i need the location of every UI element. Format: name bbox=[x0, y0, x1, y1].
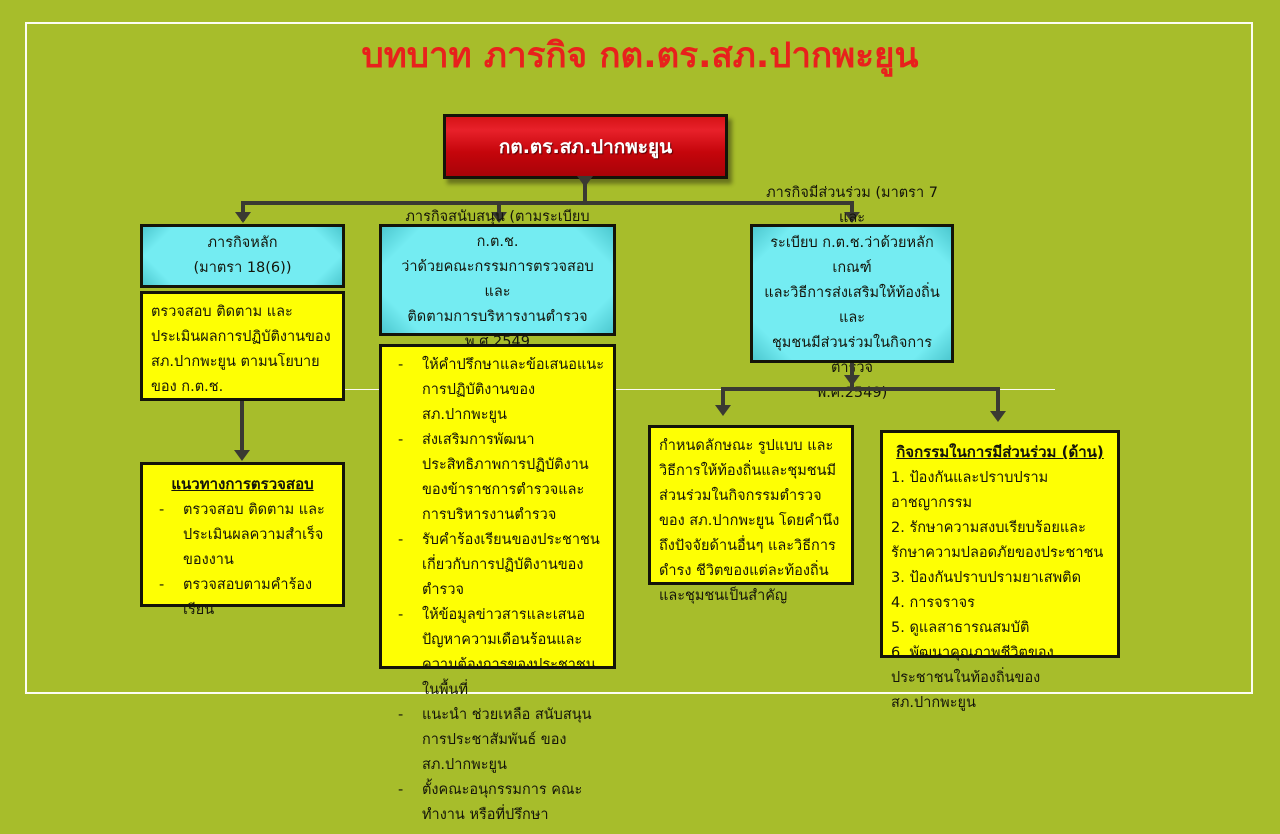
list-item: ตรวจสอบ ติดตาม และประเมินผลความสำเร็จ ขอ… bbox=[151, 498, 334, 573]
right-branch-header-line3: และวิธีการส่งเสริมให้ท้องถิ่นและ bbox=[761, 281, 943, 331]
list-item: แนะนำ ช่วยเหลือ สนับสนุนการประชาสัมพันธ์… bbox=[390, 703, 605, 778]
list-item: ตั้งคณะอนุกรรมการ คณะทำงาน หรือที่ปรึกษา bbox=[390, 778, 605, 828]
connector-right-bus bbox=[721, 387, 1000, 391]
middle-branch-header-text: ภารกิจสนับสนุน (ตามระเบียบ ก.ต.ช. ว่าด้ว… bbox=[382, 199, 613, 361]
slide-canvas: บทบาท ภารกิจ กต.ตร.สภ.ปากพะยูน กต.ตร.สภ.… bbox=[0, 0, 1280, 720]
right-child-left-box[interactable]: กำหนดลักษณะ รูปแบบ และวิธีการให้ท้องถิ่น… bbox=[648, 425, 854, 585]
right-child-right-box[interactable]: กิจกรรมในการมีส่วนร่วม (ด้าน) ป้องกันและ… bbox=[880, 430, 1120, 658]
left-child-box[interactable]: แนวทางการตรวจสอบ ตรวจสอบ ติดตาม และประเม… bbox=[140, 462, 345, 607]
left-child-list: ตรวจสอบ ติดตาม และประเมินผลความสำเร็จ ขอ… bbox=[151, 498, 334, 623]
right-branch-header-box[interactable]: ภารกิจมีส่วนร่วม (มาตรา 7 และ ระเบียบ ก.… bbox=[750, 224, 954, 363]
list-item: ตรวจสอบตามคำร้องเรียน bbox=[151, 573, 334, 623]
connector-left-child-stem bbox=[240, 401, 244, 453]
list-item: รับคำร้องเรียนของประชาชนเกี่ยวกับการปฏิบ… bbox=[390, 528, 605, 603]
list-item: ให้คำปรึกษาและข้อเสนอแนะการปฏิบัติงานของ… bbox=[390, 353, 605, 428]
left-child-content: แนวทางการตรวจสอบ ตรวจสอบ ติดตาม และประเม… bbox=[143, 465, 342, 629]
decorative-hairline-left bbox=[345, 389, 379, 390]
middle-branch-list: ให้คำปรึกษาและข้อเสนอแนะการปฏิบัติงานของ… bbox=[390, 353, 605, 828]
middle-branch-body-box[interactable]: ให้คำปรึกษาและข้อเสนอแนะการปฏิบัติงานของ… bbox=[379, 344, 616, 669]
left-branch-body-text: ตรวจสอบ ติดตาม และประเมินผลการปฏิบัติงาน… bbox=[143, 294, 342, 406]
root-node-label: กต.ตร.สภ.ปากพะยูน bbox=[491, 126, 680, 168]
connector-right-stem-arrow bbox=[844, 375, 860, 386]
middle-branch-header-line2: ว่าด้วยคณะกรรมการตรวจสอบและ bbox=[390, 255, 605, 305]
right-branch-header-line1: ภารกิจมีส่วนร่วม (มาตรา 7 และ bbox=[761, 181, 943, 231]
left-branch-body-box[interactable]: ตรวจสอบ ติดตาม และประเมินผลการปฏิบัติงาน… bbox=[140, 291, 345, 401]
middle-branch-body-content: ให้คำปรึกษาและข้อเสนอแนะการปฏิบัติงานของ… bbox=[382, 347, 613, 834]
left-child-heading: แนวทางการตรวจสอบ bbox=[151, 471, 334, 497]
right-child-left-text: กำหนดลักษณะ รูปแบบ และวิธีการให้ท้องถิ่น… bbox=[651, 428, 851, 615]
connector-root-arrow bbox=[577, 176, 593, 187]
middle-branch-header-line1: ภารกิจสนับสนุน (ตามระเบียบ ก.ต.ช. bbox=[390, 205, 605, 255]
connector-right-arrow-a bbox=[715, 405, 731, 416]
right-child-right-heading: กิจกรรมในการมีส่วนร่วม (ด้าน) bbox=[891, 439, 1109, 465]
list-item: พัฒนาคุณภาพชีวิตของประชาชนในท้องถิ่นของ … bbox=[891, 641, 1109, 716]
connector-left-child-arrow bbox=[234, 450, 250, 461]
connector-arrow-left bbox=[235, 212, 251, 223]
left-branch-header-box[interactable]: ภารกิจหลัก (มาตรา 18(6)) bbox=[140, 224, 345, 288]
list-item: ส่งเสริมการพัฒนาประสิทธิภาพการปฏิบัติงาน… bbox=[390, 428, 605, 528]
list-item: ให้ข้อมูลข่าวสารและเสนอปัญหาความเดือนร้อ… bbox=[390, 603, 605, 703]
list-item: ป้องกันและปราบปรามอาชญากรรม bbox=[891, 466, 1109, 516]
left-branch-header-line2: (มาตรา 18(6)) bbox=[194, 256, 292, 281]
middle-branch-header-line3: ติดตามการบริหารงานตำรวจ bbox=[390, 305, 605, 330]
decorative-hairline-right bbox=[1000, 389, 1055, 390]
list-item: รักษาความสงบเรียบร้อยและรักษาความปลอดภัย… bbox=[891, 516, 1109, 566]
left-branch-header-text: ภารกิจหลัก (มาตรา 18(6)) bbox=[186, 225, 300, 287]
right-branch-header-line2: ระเบียบ ก.ต.ช.ว่าด้วยหลักเกณฑ์ bbox=[761, 231, 943, 281]
page-title: บทบาท ภารกิจ กต.ตร.สภ.ปากพะยูน bbox=[0, 34, 1280, 78]
right-child-right-content: กิจกรรมในการมีส่วนร่วม (ด้าน) ป้องกันและ… bbox=[883, 433, 1117, 722]
left-branch-header-line1: ภารกิจหลัก bbox=[194, 231, 292, 256]
connector-right-arrow-b bbox=[990, 411, 1006, 422]
root-node-box[interactable]: กต.ตร.สภ.ปากพะยูน bbox=[443, 114, 728, 179]
list-item: ป้องกันปราบปรามยาเสพติด bbox=[891, 566, 1109, 591]
middle-branch-header-box[interactable]: ภารกิจสนับสนุน (ตามระเบียบ ก.ต.ช. ว่าด้ว… bbox=[379, 224, 616, 336]
right-child-right-list: ป้องกันและปราบปรามอาชญากรรม รักษาความสงบ… bbox=[891, 466, 1109, 716]
list-item: ดูแลสาธารณสมบัติ bbox=[891, 616, 1109, 641]
list-item: การจราจร bbox=[891, 591, 1109, 616]
decorative-hairline-mid bbox=[616, 389, 721, 390]
